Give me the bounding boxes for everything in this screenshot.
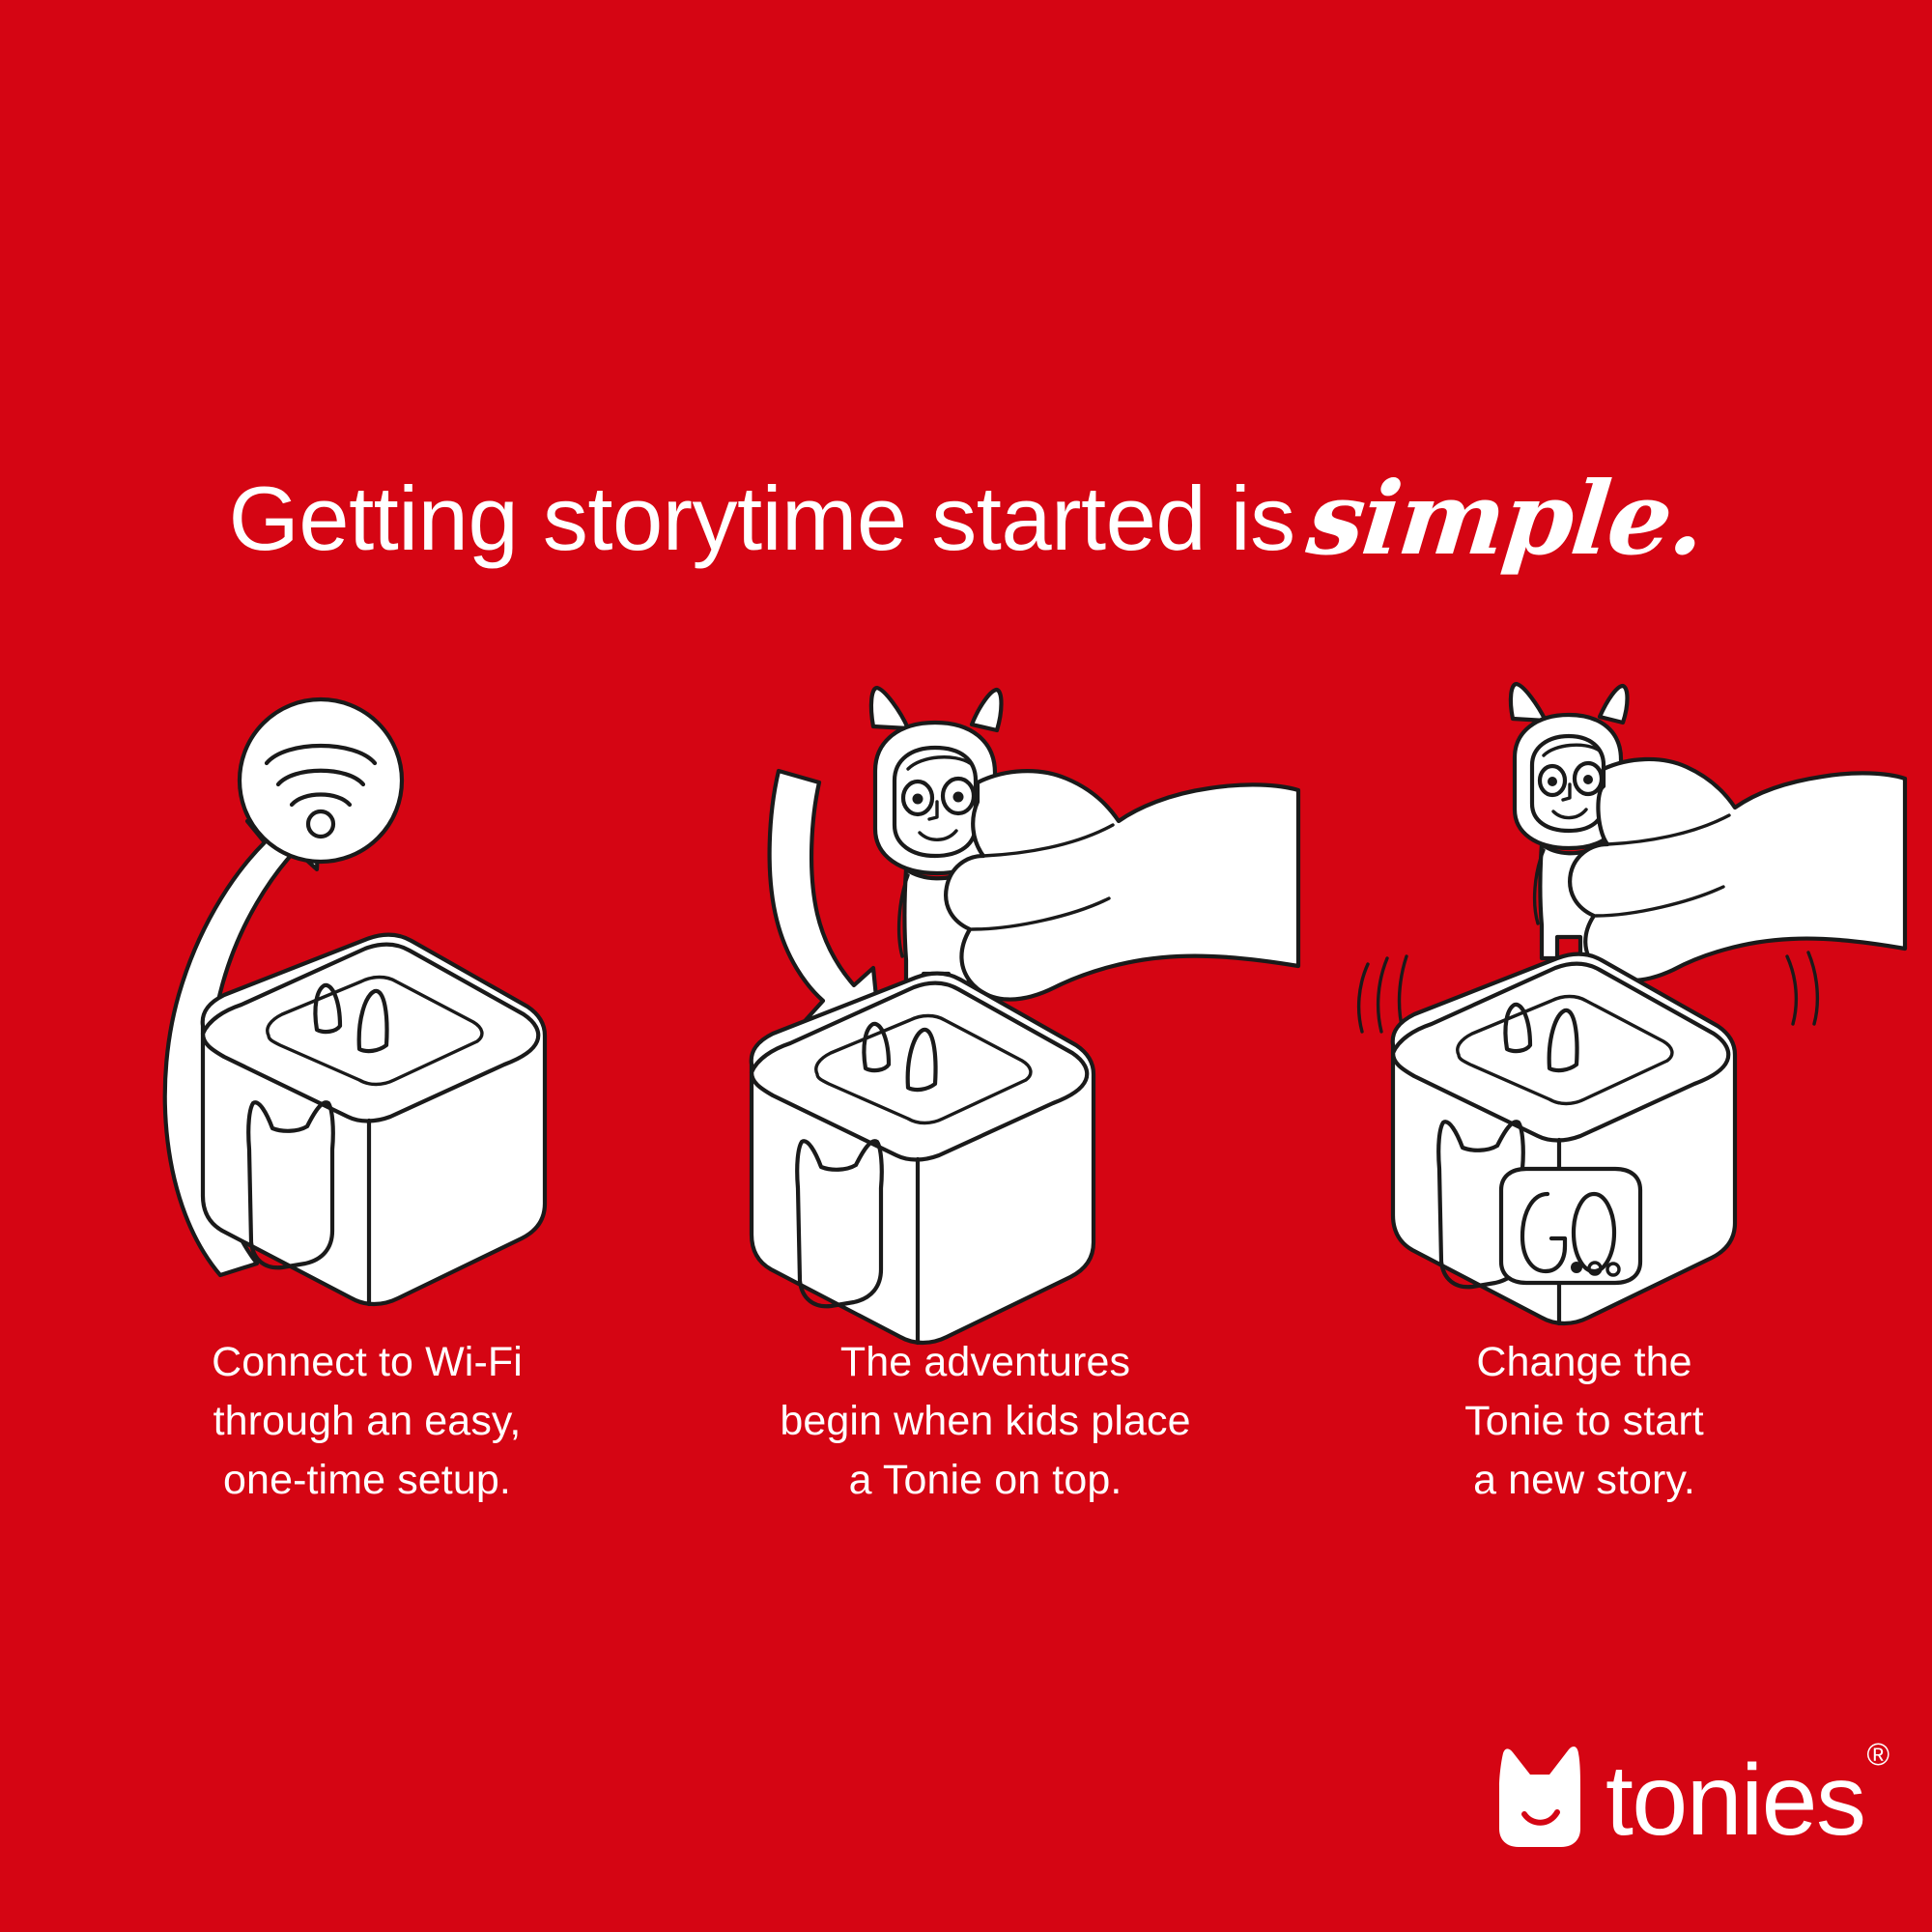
poster-canvas: Getting storytime started issimple. <box>0 0 1932 1932</box>
hand-icon <box>1570 759 1905 980</box>
caption-line: Tonie to start <box>1275 1392 1893 1451</box>
headline-plain: Getting storytime started is <box>229 468 1295 569</box>
tonies-logo: tonies ® <box>1495 1734 1888 1860</box>
caption-line: a new story. <box>1275 1451 1893 1510</box>
step-caption-change-tonie: Change the Tonie to start a new story. <box>1275 1333 1893 1510</box>
step-illustration-change-tonie <box>1275 667 1893 1343</box>
page-title: Getting storytime started issimple. <box>0 462 1932 567</box>
hand-icon <box>946 771 1298 999</box>
step-illustration-wifi <box>58 667 676 1343</box>
toniebox-icon <box>752 974 1094 1343</box>
go-speech-bubble-icon <box>1501 1169 1640 1283</box>
wifi-badge-icon <box>240 699 402 862</box>
tonies-cat-head-icon <box>1495 1744 1584 1850</box>
step-caption-place-tonie: The adventures begin when kids place a T… <box>676 1333 1294 1510</box>
registered-trademark-icon: ® <box>1867 1739 1890 1770</box>
step-panel-change-tonie: Change the Tonie to start a new story. <box>1275 667 1893 1459</box>
caption-line: one-time setup. <box>58 1451 676 1510</box>
step-panel-wifi: Connect to Wi-Fi through an easy, one-ti… <box>58 667 676 1459</box>
caption-line: Change the <box>1275 1333 1893 1392</box>
toniebox-icon <box>1393 954 1735 1323</box>
headline-script-word: simple. <box>1302 466 1708 571</box>
step-caption-wifi: Connect to Wi-Fi through an easy, one-ti… <box>58 1333 676 1510</box>
tonies-wordmark: tonies <box>1605 1750 1865 1851</box>
caption-line: Connect to Wi-Fi <box>58 1333 676 1392</box>
step-illustration-place-tonie <box>676 667 1294 1343</box>
steps-row: Connect to Wi-Fi through an easy, one-ti… <box>0 667 1932 1459</box>
caption-line: a Tonie on top. <box>676 1451 1294 1510</box>
caption-line: through an easy, <box>58 1392 676 1451</box>
caption-line: The adventures <box>676 1333 1294 1392</box>
step-panel-place-tonie: The adventures begin when kids place a T… <box>676 667 1294 1459</box>
toniebox-icon <box>203 935 545 1304</box>
caption-line: begin when kids place <box>676 1392 1294 1451</box>
